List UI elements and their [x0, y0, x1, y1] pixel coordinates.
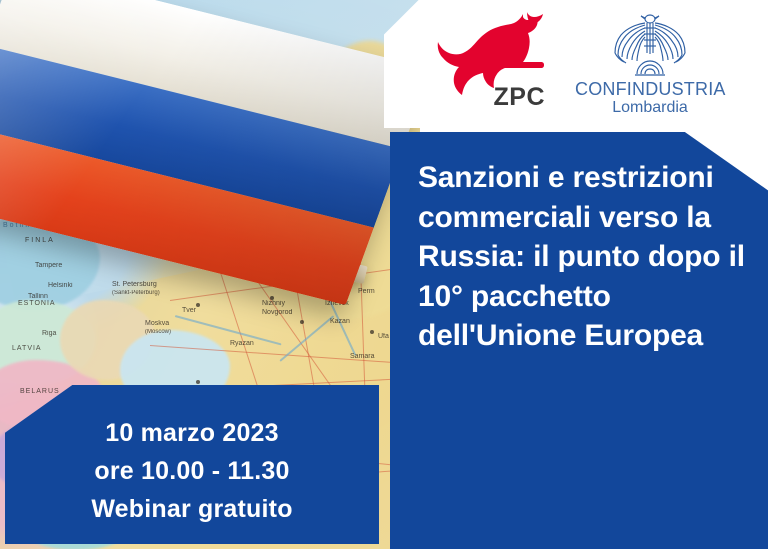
logo-panel: ZPC [384, 0, 768, 128]
map-city-dot [370, 330, 374, 334]
event-details-box: 10 marzo 2023 ore 10.00 - 11.30 Webinar … [5, 385, 379, 544]
map-label-kazan: Kazan [330, 318, 350, 325]
map-label-st-petersburg-alt: (Sankt-Peterburg) [112, 290, 160, 296]
event-format: Webinar gratuito [91, 495, 292, 524]
map-label-samara: Samara [350, 353, 375, 360]
map-label-nizhniy: Nizhniy [262, 300, 285, 307]
event-time: ore 10.00 - 11.30 [94, 457, 289, 486]
map-city-dot [300, 320, 304, 324]
event-date: 10 marzo 2023 [105, 419, 279, 448]
confindustria-name: CONFINDUSTRIA [575, 80, 725, 99]
map-city-dot [196, 380, 200, 384]
map-label-helsinki: Helsinki [48, 282, 73, 289]
map-label-latvia: LATVIA [12, 345, 42, 352]
zpc-logo: ZPC [427, 14, 545, 114]
map-label-moskva: Moskva [145, 320, 169, 327]
poster-root: R U FINLA St. Petersburg (Sankt-Peterbur… [0, 0, 768, 549]
confindustria-eagle-icon [613, 12, 687, 78]
confindustria-logo: CONFINDUSTRIA Lombardia [575, 12, 725, 116]
page-title: Sanzioni e restrizioni commerciali verso… [418, 158, 746, 356]
map-label-perm: Perm [358, 288, 375, 295]
map-label-riga: Riga [42, 330, 56, 337]
zpc-wordmark: ZPC [494, 83, 546, 112]
map-label-st-petersburg: St. Petersburg [112, 281, 157, 288]
map-label-finland: FINLA [25, 237, 55, 244]
map-label-tallinn: Tallinn [28, 293, 48, 300]
map-label-moscow-alt: (Moscow) [145, 329, 171, 335]
map-label-belarus: BELARUS [20, 388, 60, 395]
title-panel: Sanzioni e restrizioni commerciali verso… [390, 132, 768, 549]
map-label-tampere: Tampere [35, 262, 62, 269]
map-label-ryazan: Ryazan [230, 340, 254, 347]
map-label-ufa: Ufa [378, 333, 389, 340]
map-label-novgorod: Novgorod [262, 309, 292, 316]
map-label-estonia: ESTONIA [18, 300, 56, 307]
confindustria-region: Lombardia [575, 99, 725, 117]
